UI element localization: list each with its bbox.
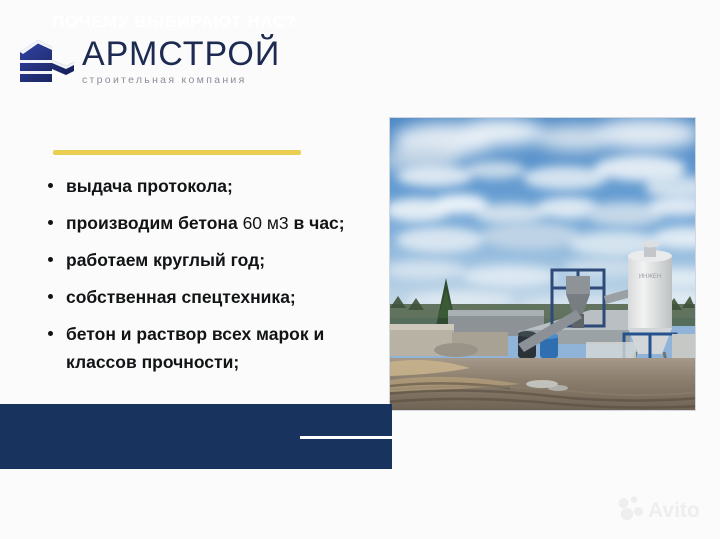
- feature-text: работаем круглый год;: [66, 250, 265, 270]
- list-item: выдача протокола;: [40, 172, 380, 200]
- feature-capacity-value: 60 м3: [243, 213, 289, 233]
- feature-text: выдача протокола;: [66, 176, 233, 196]
- list-item: производим бетона 60 м3 в час;: [40, 209, 380, 237]
- logo-tagline: строительная компания: [82, 74, 280, 87]
- yellow-accent-rule: [53, 150, 301, 155]
- silo-label: ИНЖЕН: [639, 274, 662, 280]
- logo-text-block: АРМСТРОЙ строительная компания: [82, 37, 280, 87]
- avito-watermark: Avito: [617, 494, 705, 524]
- feature-text-pre: производим бетона: [66, 213, 243, 233]
- company-logo: АРМСТРОЙ строительная компания: [18, 36, 280, 88]
- feature-text: бетон и раствор всех марок и классов про…: [66, 324, 324, 372]
- photo-image: ИНЖЕН: [390, 118, 695, 410]
- feature-text: собственная спецтехника;: [66, 287, 296, 307]
- list-item: собственная спецтехника;: [40, 283, 380, 311]
- avito-logo-icon: Avito: [617, 494, 705, 524]
- list-item: работаем круглый год;: [40, 246, 380, 274]
- cta-rule: [300, 436, 392, 439]
- advertisement-card: АРМСТРОЙ строительная компания выдача пр…: [0, 0, 720, 539]
- features-list: выдача протокола; производим бетона 60 м…: [40, 172, 380, 385]
- feature-text-post: в час;: [289, 213, 345, 233]
- list-item: бетон и раствор всех марок и классов про…: [40, 320, 380, 376]
- logo-wordmark: АРМСТРОЙ: [82, 37, 280, 71]
- cta-title: ПОЧЕМУ ВЫБИРАЮТ НАС?: [52, 9, 312, 35]
- concrete-plant-photo: ИНЖЕН: [390, 118, 695, 410]
- stepped-building-icon: [18, 38, 74, 88]
- avito-wordmark: Avito: [648, 499, 700, 522]
